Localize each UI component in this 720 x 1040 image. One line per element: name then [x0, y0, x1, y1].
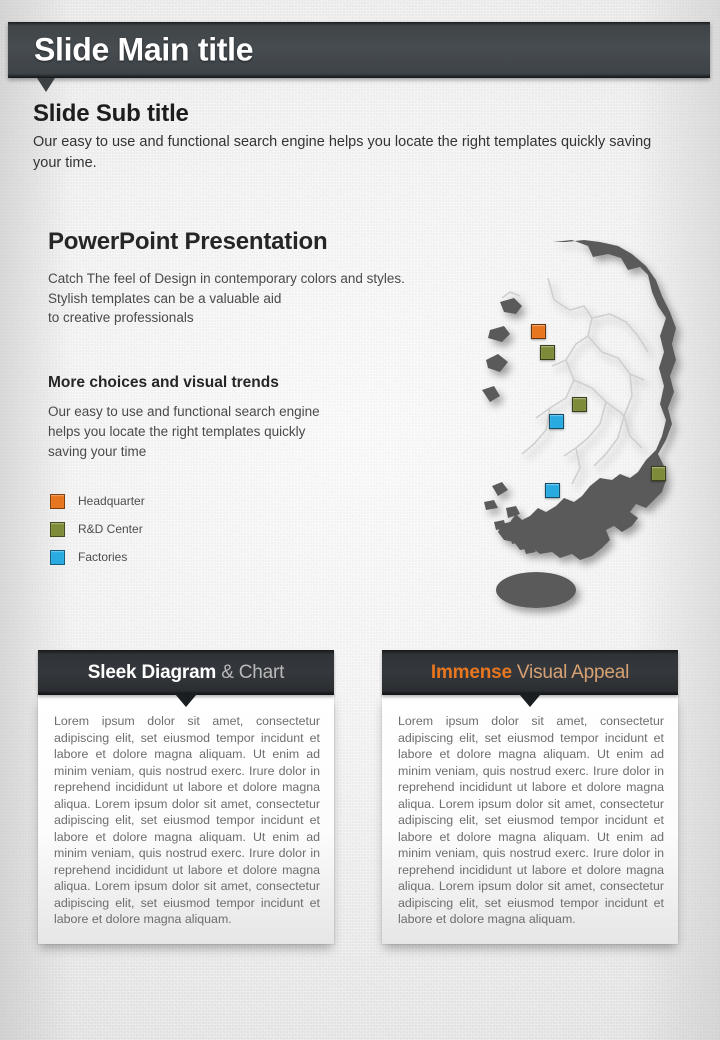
panel-right-title-strong: Immense	[431, 662, 512, 683]
content-panel-left: Sleek Diagram & Chart Lorem ipsum dolor …	[38, 650, 334, 944]
panel-left-body: Lorem ipsum dolor sit amet, consectetur …	[38, 695, 334, 944]
west-coast-detail	[482, 298, 522, 402]
panel-right-body: Lorem ipsum dolor sit amet, consectetur …	[382, 695, 678, 944]
content-panel-right: Immense Visual Appeal Lorem ipsum dolor …	[382, 650, 678, 944]
mainland-shape	[498, 240, 676, 560]
panel-right-title: Immense Visual Appeal	[431, 662, 629, 684]
panel-left-body-text: Lorem ipsum dolor sit amet, consectetur …	[54, 713, 320, 928]
subtitle-block: Slide Sub title Our easy to use and func…	[33, 100, 693, 173]
panel-left-pointer-triangle	[175, 694, 197, 707]
legend-item-factories[interactable]: Factories	[50, 543, 145, 571]
panel-right-title-light: Visual Appeal	[512, 662, 629, 683]
feature-sub-heading: More choices and visual trends	[48, 374, 478, 392]
map-marker-factory-2[interactable]	[545, 483, 560, 498]
panel-left-title: Sleek Diagram & Chart	[88, 662, 284, 684]
slide-sub-description: Our easy to use and functional search en…	[33, 132, 673, 173]
map-landmass	[482, 240, 676, 608]
feature-heading: PowerPoint Presentation	[48, 228, 478, 256]
panel-left-title-light: & Chart	[216, 662, 284, 683]
panel-left-title-strong: Sleek Diagram	[88, 662, 216, 683]
feature-secondary-block: More choices and visual trends Our easy …	[48, 374, 478, 461]
title-pointer-triangle	[37, 78, 55, 92]
map-marker-rd-center-2[interactable]	[572, 397, 587, 412]
legend-swatch-headquarter	[50, 494, 65, 509]
legend-label-factories: Factories	[78, 550, 127, 564]
panel-right-body-text: Lorem ipsum dolor sit amet, consectetur …	[398, 713, 664, 928]
map-legend: Headquarter R&D Center Factories	[50, 487, 145, 571]
map-svg	[480, 240, 720, 620]
legend-item-headquarter[interactable]: Headquarter	[50, 487, 145, 515]
map-marker-rd-center-3[interactable]	[651, 466, 666, 481]
map-marker-factory-1[interactable]	[549, 414, 564, 429]
legend-label-rd-center: R&D Center	[78, 522, 143, 536]
province-borders	[502, 278, 648, 484]
legend-label-headquarter: Headquarter	[78, 494, 145, 508]
feature-block: PowerPoint Presentation Catch The feel o…	[48, 228, 478, 461]
slide-sub-title: Slide Sub title	[33, 100, 693, 128]
legend-swatch-factories	[50, 550, 65, 565]
feature-sub-text: Our easy to use and functional search en…	[48, 402, 478, 461]
panel-left-header: Sleek Diagram & Chart	[38, 650, 334, 695]
panel-right-pointer-triangle	[519, 694, 541, 707]
legend-item-rd-center[interactable]: R&D Center	[50, 515, 145, 543]
page-title: Slide Main title	[34, 32, 253, 69]
feature-text: Catch The feel of Design in contemporary…	[48, 269, 478, 328]
map-marker-headquarter[interactable]	[531, 324, 546, 339]
south-korea-map[interactable]	[480, 240, 720, 620]
jeju-island	[496, 572, 576, 608]
legend-swatch-rd-center	[50, 522, 65, 537]
slide-title-bar: Slide Main title	[8, 22, 710, 78]
map-marker-rd-center-1[interactable]	[540, 345, 555, 360]
panel-right-header: Immense Visual Appeal	[382, 650, 678, 695]
